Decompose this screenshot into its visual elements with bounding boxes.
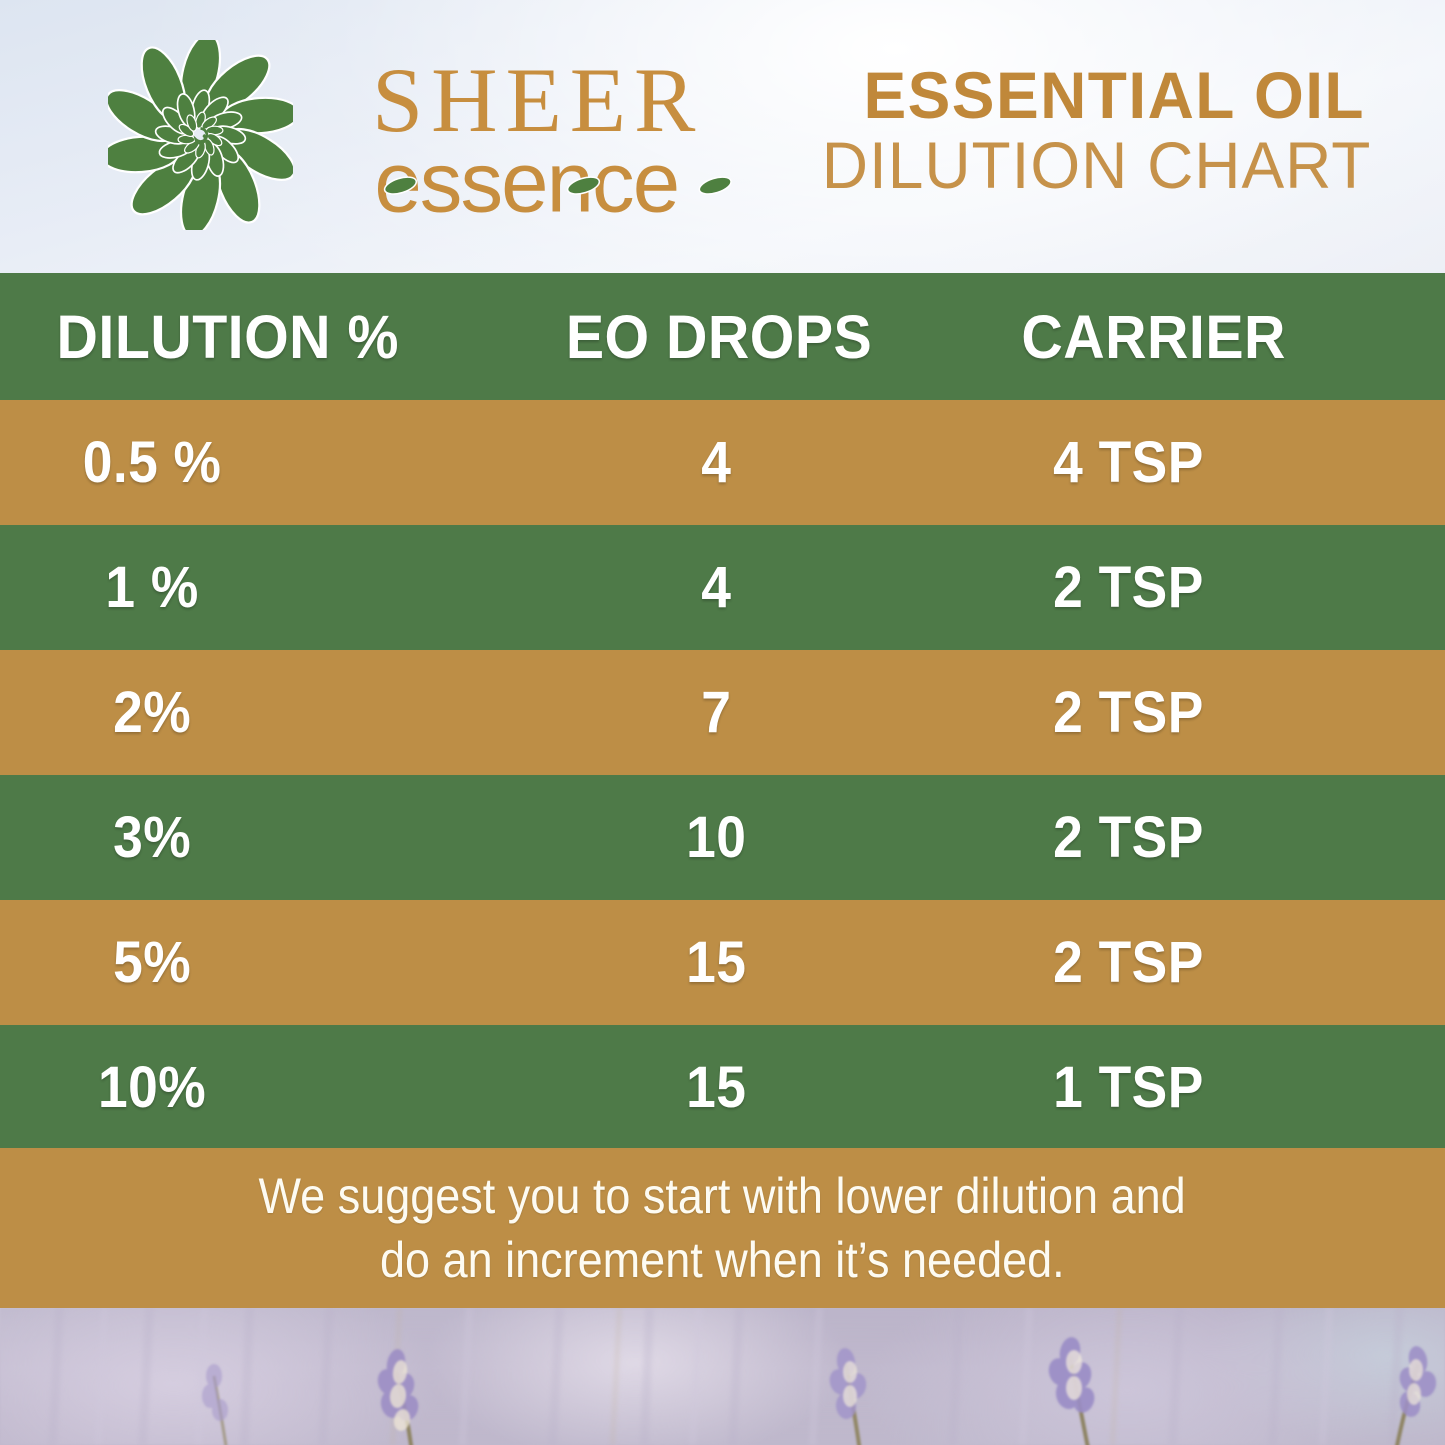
cell-dilution: 10% (21, 1054, 504, 1121)
cell-drops: 7 (541, 679, 900, 746)
cell-carrier: 4 TSP (936, 429, 1424, 496)
sunflower-leaf-rosette-icon (108, 40, 293, 230)
cell-dilution: 0.5 % (21, 429, 504, 496)
table-row: 1 % 4 2 TSP (0, 525, 1445, 650)
cell-carrier: 1 TSP (936, 1054, 1424, 1121)
title-line-2: DILUTION CHART (822, 131, 1365, 200)
brand-name-bottom: essence (368, 142, 768, 232)
page-header: SHEER essence ESSENTIAL OIL (0, 0, 1445, 273)
brand-logo: SHEER essence (100, 28, 700, 248)
cell-dilution: 5% (21, 929, 504, 996)
page-title: ESSENTIAL OIL DILUTION CHART (805, 62, 1365, 201)
title-line-1: ESSENTIAL OIL (822, 62, 1365, 129)
cell-carrier: 2 TSP (936, 679, 1424, 746)
table-row: 0.5 % 4 4 TSP (0, 400, 1445, 525)
table-row: 5% 15 2 TSP (0, 900, 1445, 1025)
cell-carrier: 2 TSP (936, 929, 1424, 996)
cell-drops: 15 (541, 1054, 900, 1121)
cell-drops: 10 (541, 804, 900, 871)
table-row: 3% 10 2 TSP (0, 775, 1445, 900)
table-row: 10% 15 1 TSP (0, 1025, 1445, 1150)
cell-carrier: 2 TSP (936, 804, 1424, 871)
column-header-dilution: DILUTION % (16, 302, 510, 372)
cell-dilution: 1 % (21, 554, 504, 621)
suggestion-note: We suggest you to start with lower dilut… (0, 1148, 1445, 1308)
table-row: 2% 7 2 TSP (0, 650, 1445, 775)
cell-drops: 4 (541, 554, 900, 621)
svg-text:essence: essence (374, 142, 678, 231)
brand-wordmark: SHEER essence (282, 46, 702, 236)
column-header-eo-drops: EO DROPS (537, 302, 904, 372)
cell-drops: 4 (541, 429, 900, 496)
column-header-carrier: CARRIER (931, 302, 1429, 372)
dilution-chart-page: SHEER essence ESSENTIAL OIL (0, 0, 1445, 1445)
cell-dilution: 2% (21, 679, 504, 746)
cell-drops: 15 (541, 929, 900, 996)
cell-dilution: 3% (21, 804, 504, 871)
note-line-2: do an increment when it’s needed. (380, 1228, 1065, 1292)
cell-carrier: 2 TSP (936, 554, 1424, 621)
lavender-field-photo (0, 1308, 1445, 1445)
note-line-1: We suggest you to start with lower dilut… (259, 1164, 1186, 1228)
table-header-row: DILUTION % EO DROPS CARRIER (0, 273, 1445, 400)
dilution-table: DILUTION % EO DROPS CARRIER 0.5 % 4 4 TS… (0, 273, 1445, 1150)
brand-name-top: SHEER (372, 54, 703, 146)
